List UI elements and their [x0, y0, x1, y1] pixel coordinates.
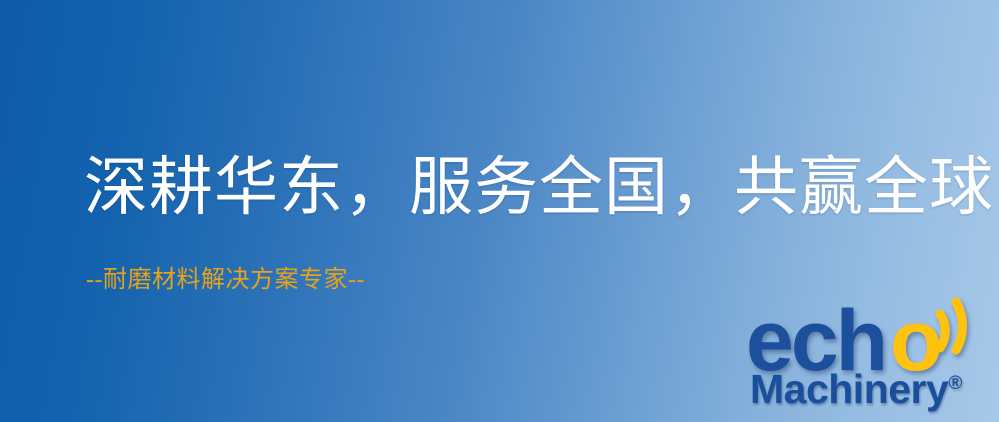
- registered-trademark-icon: ®: [948, 373, 962, 394]
- signal-waves-icon: [940, 302, 962, 350]
- company-logo[interactable]: ech o Machinery®: [744, 296, 999, 422]
- logo-subword: Machinery®: [750, 366, 962, 413]
- logo-subword-text: Machinery: [750, 366, 948, 412]
- banner-headline: 深耕华东，服务全国，共赢全球: [84, 153, 994, 222]
- banner-subtitle: --耐磨材料解决方案专家--: [86, 266, 365, 295]
- promo-banner: 深耕华东，服务全国，共赢全球 --耐磨材料解决方案专家-- ech o Mac: [0, 0, 999, 422]
